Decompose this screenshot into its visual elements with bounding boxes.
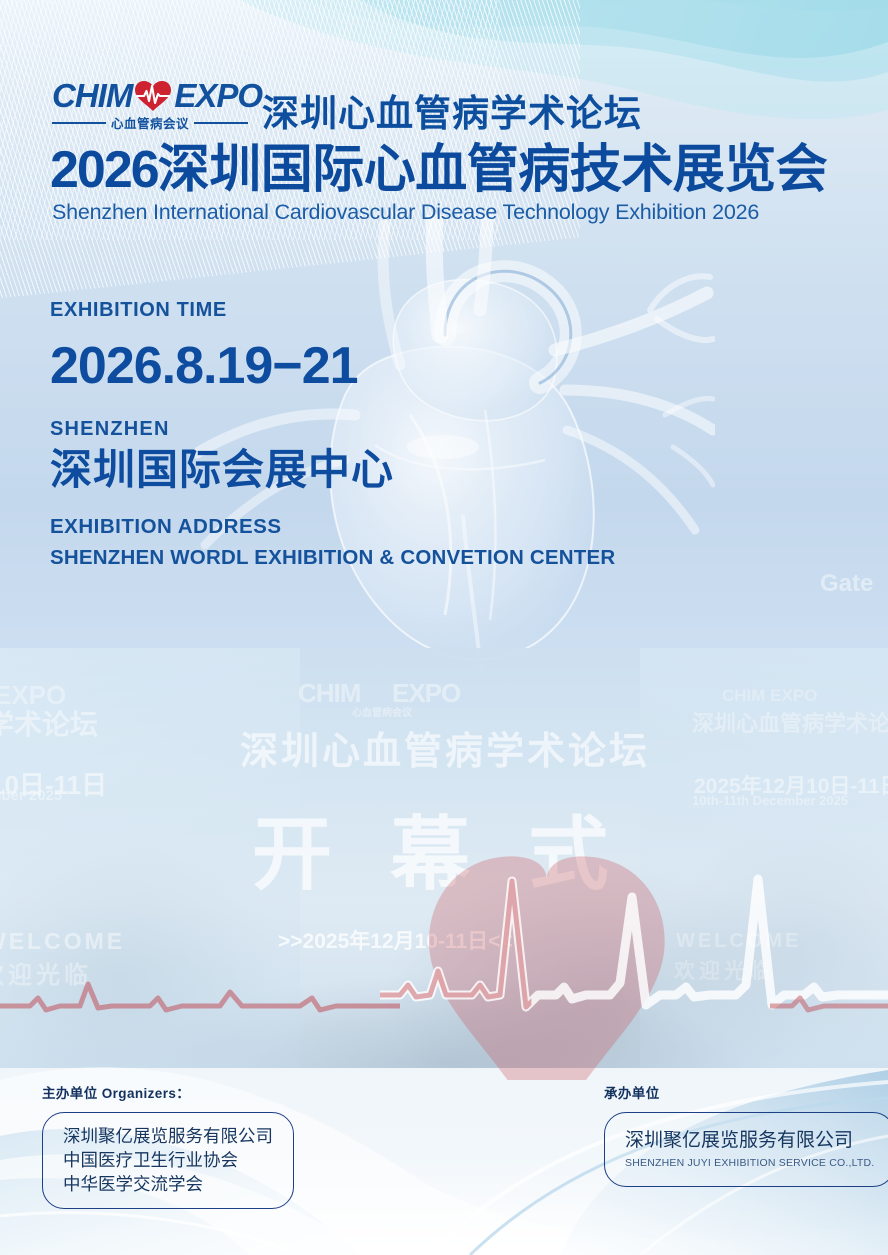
- ghost-logo-expo: EXPO: [392, 678, 460, 709]
- chim-expo-logo-wordmark: CHIM EXPO: [52, 76, 248, 114]
- ghost-left-welcome: WELCOME: [0, 928, 125, 955]
- main-title-year: 2026: [50, 141, 158, 199]
- main-title-english: Shenzhen International Cardiovascular Di…: [52, 200, 759, 225]
- logo-text-expo: EXPO: [174, 79, 262, 112]
- ghost-right-date-en: 10th-11th December 2025: [692, 793, 848, 808]
- ghost-left-date-en: mber 2025: [0, 787, 62, 804]
- ghost-left-welcome-cn: 欢迎光临: [0, 955, 92, 990]
- event-info-block: EXHIBITION TIME 2026.8.19−21 SHENZHEN 深圳…: [50, 298, 615, 570]
- logo-text-chim: CHIM: [52, 79, 132, 112]
- poster-footer: 主办单位 Organizers： 深圳聚亿展览服务有限公司 中国医疗卫生行业协会…: [0, 1070, 888, 1255]
- ghost-logo-chim: CHIM: [298, 678, 360, 709]
- ecg-line-right: [770, 960, 888, 1030]
- logo-subtitle-text: 心血管病会议: [111, 113, 189, 132]
- undertaker-label: 承办单位: [604, 1082, 888, 1102]
- ghost-logo-sub: 心血管病会议: [352, 704, 412, 719]
- organizers-label: 主办单位 Organizers：: [42, 1082, 294, 1102]
- exhibition-address-label: EXHIBITION ADDRESS: [50, 515, 615, 539]
- organizer-line-1: 深圳聚亿展览服务有限公司: [63, 1124, 273, 1148]
- main-title-chinese: 深圳国际心血管病技术展览会: [158, 141, 828, 199]
- red-heart-ecg-graphic: [380, 845, 888, 1080]
- city-label: SHENZHEN: [50, 418, 615, 441]
- background-photo-band: [0, 648, 888, 1068]
- undertaker-section: 承办单位 深圳聚亿展览服务有限公司 SHENZHEN JUYI EXHIBITI…: [604, 1082, 888, 1187]
- logo-subtitle-row: 心血管病会议: [52, 113, 248, 132]
- ghost-right-welcome: WELCOME: [676, 930, 801, 953]
- ghost-right-logo: CHIM EXPO: [722, 686, 817, 706]
- exhibition-address-english: SHENZHEN WORDL EXHIBITION & CONVETION CE…: [50, 546, 615, 570]
- undertaker-name-english: SHENZHEN JUYI EXHIBITION SERVICE CO.,LTD…: [625, 1157, 874, 1169]
- exhibition-time-label: EXHIBITION TIME: [50, 298, 615, 322]
- ghost-right-welcome-cn: 欢迎光临: [674, 955, 774, 985]
- ghost-gate-sign: Gate: [820, 570, 873, 598]
- ghost-left-forum: 学术论坛: [0, 703, 98, 743]
- ghost-right-forum: 深圳心血管病学术论坛: [692, 706, 888, 738]
- background-photo-right-panel: [640, 648, 888, 1068]
- ghost-left-expo: EXPO: [0, 680, 66, 711]
- background-photo-left-panel: [0, 648, 300, 1068]
- ecg-line-left: [0, 960, 400, 1030]
- chim-expo-logo: CHIM EXPO 心血管病会议: [52, 76, 248, 134]
- venue-name-chinese: 深圳国际会展中心: [50, 447, 615, 493]
- logo-rule-left: [52, 122, 106, 124]
- heart-ecg-icon: [133, 78, 173, 112]
- ghost-date-line: >>2025年12月10-11日<<: [278, 925, 513, 955]
- organizers-section: 主办单位 Organizers： 深圳聚亿展览服务有限公司 中国医疗卫生行业协会…: [42, 1082, 294, 1209]
- exhibition-date: 2026.8.19−21: [50, 340, 615, 392]
- organizer-line-2: 中国医疗卫生行业协会: [63, 1148, 273, 1172]
- ghost-left-date: 10日-11日: [0, 765, 107, 802]
- logo-rule-right: [194, 122, 248, 124]
- main-title: 2026深圳国际心血管病技术展览会: [50, 144, 827, 196]
- ghost-forum-title: 深圳心血管病学术论坛: [240, 720, 650, 775]
- ghost-right-date: 2025年12月10日-11日: [694, 770, 888, 800]
- ghost-opening-ceremony: 开 幕 式: [252, 790, 626, 906]
- event-logo: CHIM EXPO 心血管病会议 深圳心血管病学术论坛: [52, 76, 642, 134]
- forum-title: 深圳心血管病学术论坛: [262, 95, 642, 134]
- organizer-line-3: 中华医学交流学会: [63, 1172, 273, 1196]
- organizers-box: 深圳聚亿展览服务有限公司 中国医疗卫生行业协会 中华医学交流学会: [42, 1112, 294, 1209]
- poster-root: CHIM EXPO 心血管病会议 深圳心血管病学术论坛 开 幕 式 >>2025…: [0, 0, 888, 1255]
- undertaker-name-chinese: 深圳聚亿展览服务有限公司: [625, 1129, 874, 1154]
- undertaker-box: 深圳聚亿展览服务有限公司 SHENZHEN JUYI EXHIBITION SE…: [604, 1112, 888, 1187]
